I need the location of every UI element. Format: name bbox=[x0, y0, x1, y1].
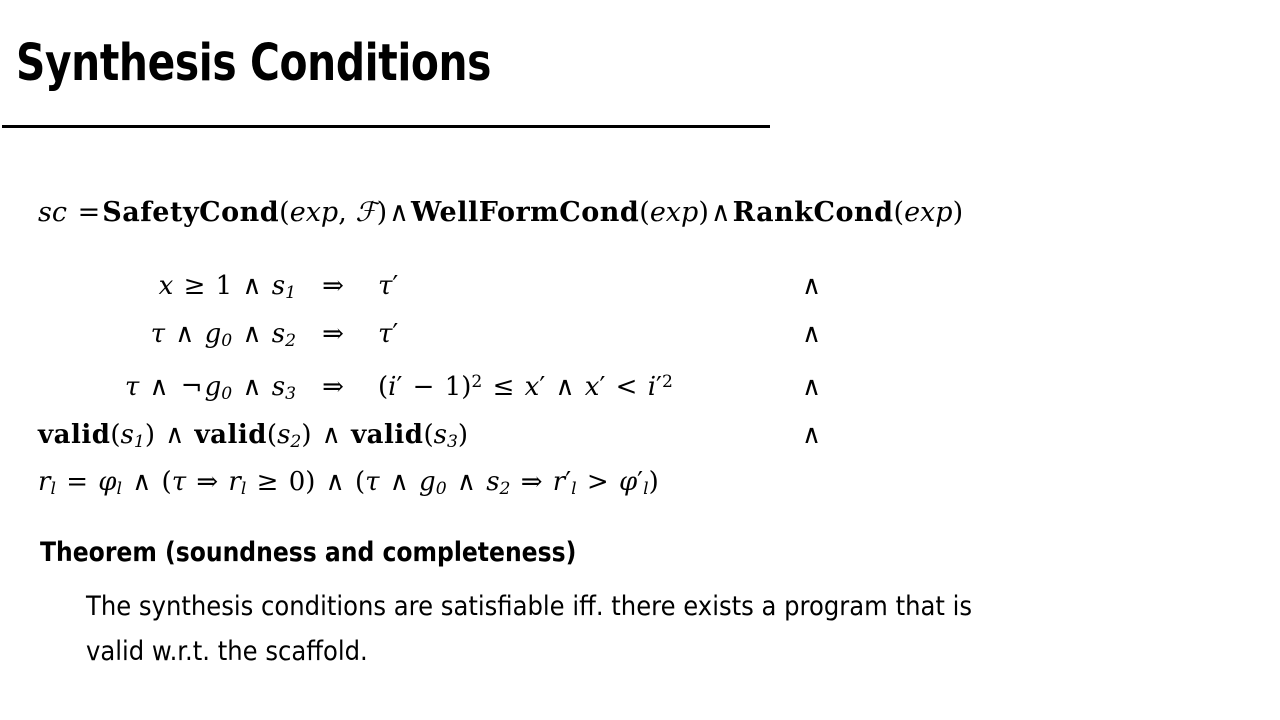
page-title: Synthesis Conditions bbox=[16, 34, 491, 94]
validity-conditions-line: valid(s1) ∧ valid(s2) ∧ valid(s3) bbox=[0, 415, 802, 463]
theorem-heading: Theorem (soundness and completeness) bbox=[40, 536, 576, 570]
condition-3-implies-arrow: ⇒ bbox=[296, 362, 370, 415]
table-row: rl = φl ∧ (τ ⇒ rl ≥ 0) ∧ (τ ∧ g0 ∧ s2 ⇒ … bbox=[0, 462, 842, 510]
table-row: valid(s1) ∧ valid(s2) ∧ valid(s3) ∧ bbox=[0, 415, 842, 463]
validity-conjunction: ∧ bbox=[802, 415, 842, 463]
condition-2-antecedent: τ ∧ g0 ∧ s2 bbox=[0, 314, 296, 362]
safetycond-function-name: SafetyCond bbox=[102, 197, 279, 228]
condition-1-consequent: τ′ bbox=[370, 266, 802, 314]
conjunction-operator: ∧ bbox=[387, 197, 411, 228]
script-f-symbol: ℱ bbox=[355, 197, 376, 228]
theorem-body-text: The synthesis conditions are satisfiable… bbox=[86, 584, 995, 674]
condition-3-antecedent: τ ∧ ¬g0 ∧ s3 bbox=[0, 362, 296, 415]
table-row: τ ∧ ¬g0 ∧ s3 ⇒ (i′ − 1)2 ≤ x′ ∧ x′ < i′2… bbox=[0, 362, 842, 415]
formula-lhs-symbol: sc bbox=[38, 197, 67, 228]
slide-canvas: Synthesis Conditions sc =SafetyCond(exp,… bbox=[0, 0, 1280, 720]
wellformcond-function-name: WellFormCond bbox=[411, 197, 639, 228]
condition-3-conjunction: ∧ bbox=[802, 362, 842, 415]
table-row: τ ∧ g0 ∧ s2 ⇒ τ′ ∧ bbox=[0, 314, 842, 362]
formula-definition-line: sc =SafetyCond(exp, ℱ)∧WellFormCond(exp)… bbox=[38, 196, 963, 230]
condition-2-conjunction: ∧ bbox=[802, 314, 842, 362]
condition-1-conjunction: ∧ bbox=[802, 266, 842, 314]
table-row: x ≥ 1 ∧ s1 ⇒ τ′ ∧ bbox=[0, 266, 842, 314]
condition-2-consequent: τ′ bbox=[370, 314, 802, 362]
formula-equals-operator: = bbox=[76, 197, 103, 228]
rank-condition-line: rl = φl ∧ (τ ⇒ rl ≥ 0) ∧ (τ ∧ g0 ∧ s2 ⇒ … bbox=[0, 462, 842, 510]
condition-2-implies-arrow: ⇒ bbox=[296, 314, 370, 362]
conditions-equation-table: x ≥ 1 ∧ s1 ⇒ τ′ ∧ τ ∧ g0 ∧ s2 ⇒ τ′ ∧ τ ∧… bbox=[0, 266, 842, 510]
condition-1-antecedent: x ≥ 1 ∧ s1 bbox=[0, 266, 296, 314]
conjunction-operator: ∧ bbox=[709, 197, 733, 228]
title-divider bbox=[2, 125, 770, 128]
condition-1-implies-arrow: ⇒ bbox=[296, 266, 370, 314]
rankcond-function-name: RankCond bbox=[733, 197, 894, 228]
condition-3-consequent: (i′ − 1)2 ≤ x′ ∧ x′ < i′2 bbox=[370, 362, 802, 415]
